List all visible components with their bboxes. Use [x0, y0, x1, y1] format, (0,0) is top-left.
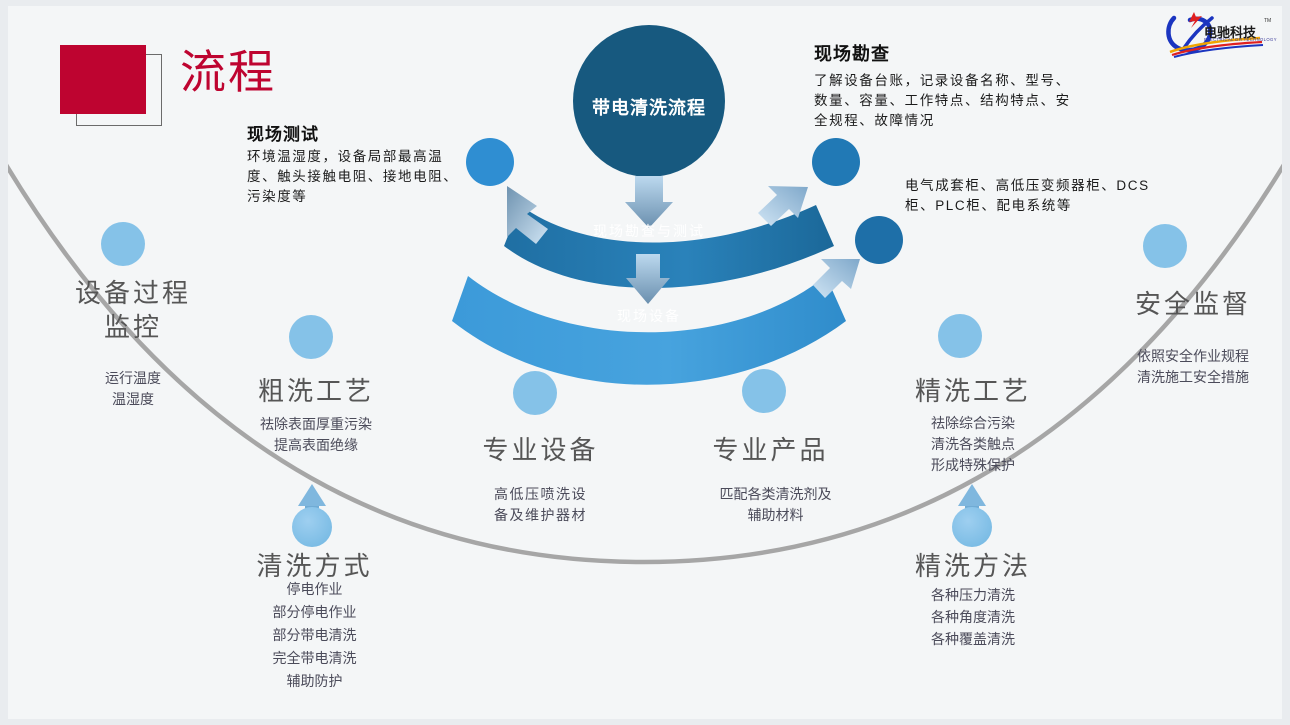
- arc-label-2: 现场设备: [564, 306, 734, 326]
- node-sub-line: 清洗各类触点: [893, 434, 1053, 455]
- page-title: 流程: [180, 46, 276, 98]
- slide-canvas: 流程 电驰科技 ELECTRICAL DH TECHNOLOGY TM 带电清洗…: [8, 6, 1282, 719]
- satellite-dot-right-top: [812, 138, 860, 186]
- node-sub-line: 停电作业: [232, 578, 397, 601]
- hub-label: 带电清洗流程: [575, 94, 723, 120]
- node-sub-fine-wash-method: 各种压力清洗 各种角度清洗 各种覆盖清洗: [892, 584, 1054, 650]
- callout-body-field-survey: 了解设备台账，记录设备名称、型号、数量、容量、工作特点、结构特点、安全规程、故障…: [814, 71, 1084, 131]
- curve-node-2: [289, 315, 333, 359]
- node-title-rough-wash: 粗洗工艺: [236, 371, 396, 408]
- node-sub-line: 各种覆盖清洗: [892, 628, 1054, 650]
- node-sub-line: 形成特殊保护: [893, 455, 1053, 476]
- node-title-line2: 监控: [104, 312, 162, 342]
- ball-cleaning-method: [292, 507, 332, 547]
- node-sub-line: 备及维护器材: [458, 505, 623, 526]
- node-sub-line: 祛除综合污染: [893, 413, 1053, 434]
- node-title-fine-wash-process: 精洗工艺: [893, 371, 1053, 408]
- node-sub-rough-wash: 祛除表面厚重污染 提高表面绝缘: [226, 414, 406, 456]
- callout-heading-field-test: 现场测试: [247, 120, 319, 145]
- node-sub-line: 依照安全作业规程: [1103, 346, 1282, 367]
- node-sub-line: 温湿度: [58, 389, 208, 410]
- node-title-safety-supervision: 安全监督: [1108, 284, 1278, 321]
- node-sub-professional-equipment: 高低压喷洗设 备及维护器材: [458, 484, 623, 526]
- node-sub-line: 匹配各类清洗剂及: [688, 484, 863, 505]
- node-title-equipment-monitoring: 设备过程 监控: [58, 276, 208, 344]
- company-logo: 电驰科技 ELECTRICAL DH TECHNOLOGY TM: [1164, 8, 1276, 58]
- satellite-dot-right-bottom: [855, 216, 903, 264]
- logo-english-name: ELECTRICAL DH TECHNOLOGY: [1204, 37, 1277, 42]
- node-sub-line: 各种压力清洗: [892, 584, 1054, 606]
- node-sub-line: 各种角度清洗: [892, 606, 1054, 628]
- node-sub-line: 辅助材料: [688, 505, 863, 526]
- node-sub-cleaning-method: 停电作业 部分停电作业 部分带电清洗 完全带电清洗 辅助防护: [232, 578, 397, 693]
- node-sub-line: 祛除表面厚重污染: [226, 414, 406, 435]
- curve-node-3: [513, 371, 557, 415]
- node-sub-line: 清洗施工安全措施: [1103, 367, 1282, 388]
- node-title-fine-wash-method: 精洗方法: [892, 546, 1054, 583]
- node-sub-professional-product: 匹配各类清洗剂及 辅助材料: [688, 484, 863, 526]
- node-sub-equipment-monitoring: 运行温度 温湿度: [58, 368, 208, 410]
- arc-label-1: 现场勘查与测试: [564, 221, 734, 241]
- callout-body-field-test: 环境温湿度，设备局部最高温度、触头接触电阻、接地电阻、污染度等: [247, 147, 459, 207]
- node-title-professional-equipment: 专业设备: [458, 430, 623, 467]
- node-sub-fine-wash-process: 祛除综合污染 清洗各类触点 形成特殊保护: [893, 413, 1053, 476]
- callout-heading-field-survey: 现场勘查: [814, 40, 890, 66]
- node-sub-line: 高低压喷洗设: [458, 484, 623, 505]
- arc-band-1: [504, 205, 834, 288]
- node-sub-line: 辅助防护: [232, 670, 397, 693]
- node-sub-line: 部分带电清洗: [232, 624, 397, 647]
- logo-tm-mark: TM: [1264, 18, 1271, 24]
- node-sub-line: 完全带电清洗: [232, 647, 397, 670]
- curve-node-1: [101, 222, 145, 266]
- satellite-dot-left: [466, 138, 514, 186]
- node-sub-line: 提高表面绝缘: [226, 435, 406, 456]
- stem-arrowhead-cleaning-method: [298, 484, 326, 506]
- up-right-arrow-2: [813, 259, 860, 298]
- curve-node-5: [938, 314, 982, 358]
- equipment-note: 电气成套柜、高低压变频器柜、DCS柜、PLC柜、配电系统等: [905, 176, 1175, 216]
- curve-node-6: [1143, 224, 1187, 268]
- ball-fine-method: [952, 507, 992, 547]
- node-title-professional-product: 专业产品: [688, 430, 853, 467]
- node-sub-line: 部分停电作业: [232, 601, 397, 624]
- curve-node-4: [742, 369, 786, 413]
- node-sub-line: 运行温度: [58, 368, 208, 389]
- title-square-fill: [60, 45, 146, 114]
- node-sub-safety-supervision: 依照安全作业规程 清洗施工安全措施: [1103, 346, 1282, 388]
- node-title-line1: 设备过程: [75, 278, 191, 308]
